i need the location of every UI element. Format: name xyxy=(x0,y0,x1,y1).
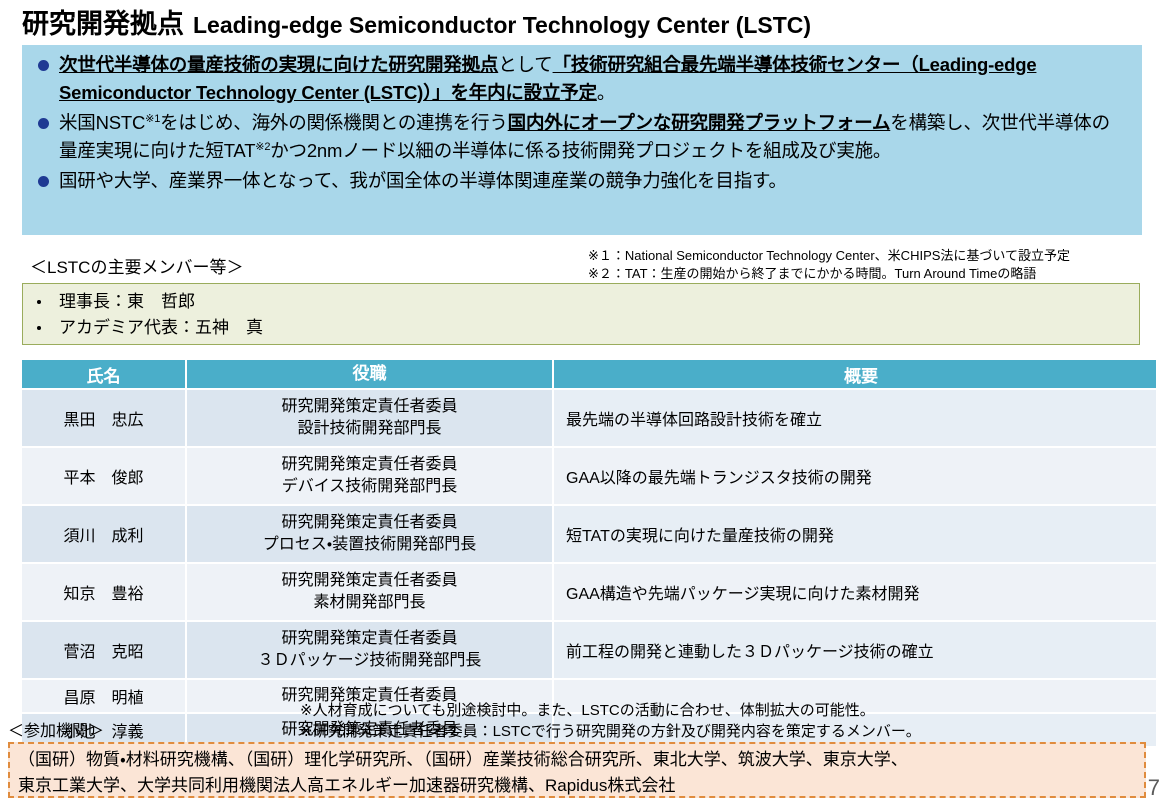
table-row: 黒田 忠広 研究開発策定責任者委員 設計技術開発部門長 最先端の半導体回路設計技… xyxy=(22,390,1156,448)
table-row: 須川 成利 研究開発策定責任者委員 プロセス・装置技術開発部門長 短TATの実現… xyxy=(22,506,1156,564)
cell-role-line1: 研究開発策定責任者委員 xyxy=(187,454,552,476)
highlight-bullet-text-1: 米国NSTC※1をはじめ、海外の関係機関との連携を行う国内外にオープンな研究開発… xyxy=(59,109,1128,165)
highlight-bullet-text-0: 次世代半導体の量産技術の実現に向けた研究開発拠点として「技術研究組合最先端半導体… xyxy=(59,51,1128,107)
participating-institutions-label: ＜参加機関＞ xyxy=(8,717,104,741)
column-header-summary: 概要 xyxy=(554,360,1156,390)
members-section-label: ＜LSTCの主要メンバー等＞ xyxy=(30,253,243,278)
bottom-note-block: ※人材育成についても別途検討中。また、LSTCの活動に合わせ、体制拡大の可能性。… xyxy=(300,700,921,742)
bullet-icon xyxy=(38,60,49,71)
cell-name: 平本 俊郎 xyxy=(22,448,187,506)
footnote-1: ※１：National Semiconductor Technology Cen… xyxy=(588,247,1070,265)
table-row: 菅沼 克昭 研究開発策定責任者委員 ３Ｄパッケージ技術開発部門長 前工程の開発と… xyxy=(22,622,1156,680)
page-title-en: Leading-edge Semiconductor Technology Ce… xyxy=(193,12,811,39)
cell-role: 研究開発策定責任者委員 設計技術開発部門長 xyxy=(187,390,554,448)
table-row: 平本 俊郎 研究開発策定責任者委員 デバイス技術開発部門長 GAA以降の最先端ト… xyxy=(22,448,1156,506)
cell-summary: GAA以降の最先端トランジスタ技術の開発 xyxy=(554,448,1156,506)
footnote-2: ※２：TAT：生産の開始から終了までにかかる時間。Turn Around Tim… xyxy=(588,265,1070,283)
cell-role-line1: 研究開発策定責任者委員 xyxy=(187,512,552,534)
cell-role-line1: 研究開発策定責任者委員 xyxy=(187,628,552,650)
leadership-panel: 理事長：東 哲郎 アカデミア代表：五神 真 xyxy=(22,283,1140,345)
organizations-line-1: （国研）物質・材料研究機構、（国研）理化学研究所、（国研）産業技術総合研究所、東… xyxy=(18,747,1144,773)
cell-role-line1: 研究開発策定責任者委員 xyxy=(187,570,552,592)
cell-name: 菅沼 克昭 xyxy=(22,622,187,680)
bullet-icon xyxy=(37,326,41,330)
leadership-academia-rep: アカデミア代表：五神 真 xyxy=(59,315,263,341)
table-header-row: 氏名 役職 概要 xyxy=(22,360,1156,390)
bottom-note-2: ※研究開発策定責任者委員：LSTCで行う研究開発の方針及び開発内容を策定するメン… xyxy=(300,721,921,742)
footnote-block: ※１：National Semiconductor Technology Cen… xyxy=(588,247,1070,283)
bullet-icon xyxy=(38,176,49,187)
bottom-note-1: ※人材育成についても別途検討中。また、LSTCの活動に合わせ、体制拡大の可能性。 xyxy=(300,700,921,721)
column-header-name: 氏名 xyxy=(22,360,187,390)
organizations-line-2: 東京工業大学、大学共同利用機関法人高エネルギー加速器研究機構、Rapidus株式… xyxy=(18,773,1144,799)
page-number: 7 xyxy=(1148,775,1160,801)
cell-summary: 最先端の半導体回路設計技術を確立 xyxy=(554,390,1156,448)
cell-role: 研究開発策定責任者委員 プロセス・装置技術開発部門長 xyxy=(187,506,554,564)
cell-summary: 前工程の開発と連動した３Ｄパッケージ技術の確立 xyxy=(554,622,1156,680)
cell-role-line2: プロセス・装置技術開発部門長 xyxy=(187,534,552,556)
bullet-icon xyxy=(37,300,41,304)
cell-role-line1: 研究開発策定責任者委員 xyxy=(187,396,552,418)
page-title-jp: 研究開発拠点 xyxy=(22,2,184,41)
member-table: 氏名 役職 概要 黒田 忠広 研究開発策定責任者委員 設計技術開発部門長 最先端… xyxy=(22,360,1156,748)
cell-role-line2: 素材開発部門長 xyxy=(187,592,552,614)
cell-name: 知京 豊裕 xyxy=(22,564,187,622)
cell-name: 昌原 明植 xyxy=(22,680,187,714)
list-item: アカデミア代表：五神 真 xyxy=(33,315,1139,341)
cell-role: 研究開発策定責任者委員 デバイス技術開発部門長 xyxy=(187,448,554,506)
table-row: 知京 豊裕 研究開発策定責任者委員 素材開発部門長 GAA構造や先端パッケージ実… xyxy=(22,564,1156,622)
cell-summary: 短TATの実現に向けた量産技術の開発 xyxy=(554,506,1156,564)
highlight-bullet-text-2: 国研や大学、産業界一体となって、我が国全体の半導体関連産業の競争力強化を目指す。 xyxy=(59,167,787,195)
highlight-bullet-list: 次世代半導体の量産技術の実現に向けた研究開発拠点として「技術研究組合最先端半導体… xyxy=(22,51,1142,195)
leadership-chairman: 理事長：東 哲郎 xyxy=(59,289,195,315)
list-item: 国研や大学、産業界一体となって、我が国全体の半導体関連産業の競争力強化を目指す。 xyxy=(22,167,1142,195)
list-item: 理事長：東 哲郎 xyxy=(33,289,1139,315)
cell-role-line2: ３Ｄパッケージ技術開発部門長 xyxy=(187,650,552,672)
page-title: 研究開発拠点 Leading-edge Semiconductor Techno… xyxy=(22,2,1152,42)
column-header-role: 役職 xyxy=(187,360,554,390)
participating-institutions-panel: （国研）物質・材料研究機構、（国研）理化学研究所、（国研）産業技術総合研究所、東… xyxy=(8,742,1146,798)
highlight-panel: 次世代半導体の量産技術の実現に向けた研究開発拠点として「技術研究組合最先端半導体… xyxy=(22,45,1142,235)
cell-role: 研究開発策定責任者委員 素材開発部門長 xyxy=(187,564,554,622)
cell-role-line2: デバイス技術開発部門長 xyxy=(187,476,552,498)
list-item: 米国NSTC※1をはじめ、海外の関係機関との連携を行う国内外にオープンな研究開発… xyxy=(22,109,1142,165)
list-item: 次世代半導体の量産技術の実現に向けた研究開発拠点として「技術研究組合最先端半導体… xyxy=(22,51,1142,107)
cell-name: 須川 成利 xyxy=(22,506,187,564)
cell-name: 黒田 忠広 xyxy=(22,390,187,448)
bullet-icon xyxy=(38,118,49,129)
cell-summary: GAA構造や先端パッケージ実現に向けた素材開発 xyxy=(554,564,1156,622)
cell-role: 研究開発策定責任者委員 ３Ｄパッケージ技術開発部門長 xyxy=(187,622,554,680)
table-body: 黒田 忠広 研究開発策定責任者委員 設計技術開発部門長 最先端の半導体回路設計技… xyxy=(22,390,1156,748)
cell-role-line2: 設計技術開発部門長 xyxy=(187,418,552,440)
